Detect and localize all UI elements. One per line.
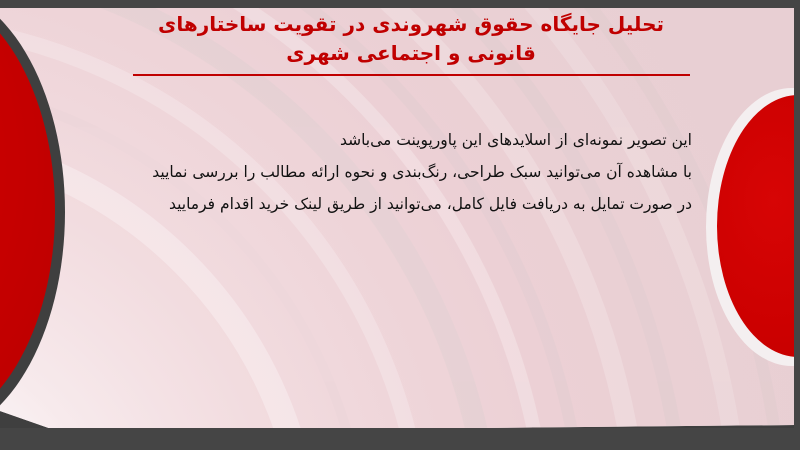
title-underline-rule bbox=[133, 74, 690, 76]
body-line-2: با مشاهده آن می‌توانید سبک طراحی، رنگ‌بن… bbox=[96, 156, 692, 188]
slide-title-line-1: تحلیل جایگاه حقوق شهروندی در تقویت ساختا… bbox=[130, 10, 692, 39]
body-line-1: این تصویر نمونه‌ای از اسلایدهای این پاور… bbox=[96, 124, 692, 156]
slide-frame-right-band bbox=[794, 0, 800, 450]
slide-frame-top-band bbox=[0, 0, 800, 8]
slide-title-line-2: قانونی و اجتماعی شهری bbox=[130, 39, 692, 68]
presentation-slide: تحلیل جایگاه حقوق شهروندی در تقویت ساختا… bbox=[0, 0, 800, 450]
body-line-3: در صورت تمایل به دریافت فایل کامل، می‌تو… bbox=[96, 188, 692, 220]
slide-title: تحلیل جایگاه حقوق شهروندی در تقویت ساختا… bbox=[130, 10, 692, 68]
slide-body-text: این تصویر نمونه‌ای از اسلایدهای این پاور… bbox=[96, 124, 692, 220]
slide-frame-bottom-band bbox=[0, 428, 800, 450]
